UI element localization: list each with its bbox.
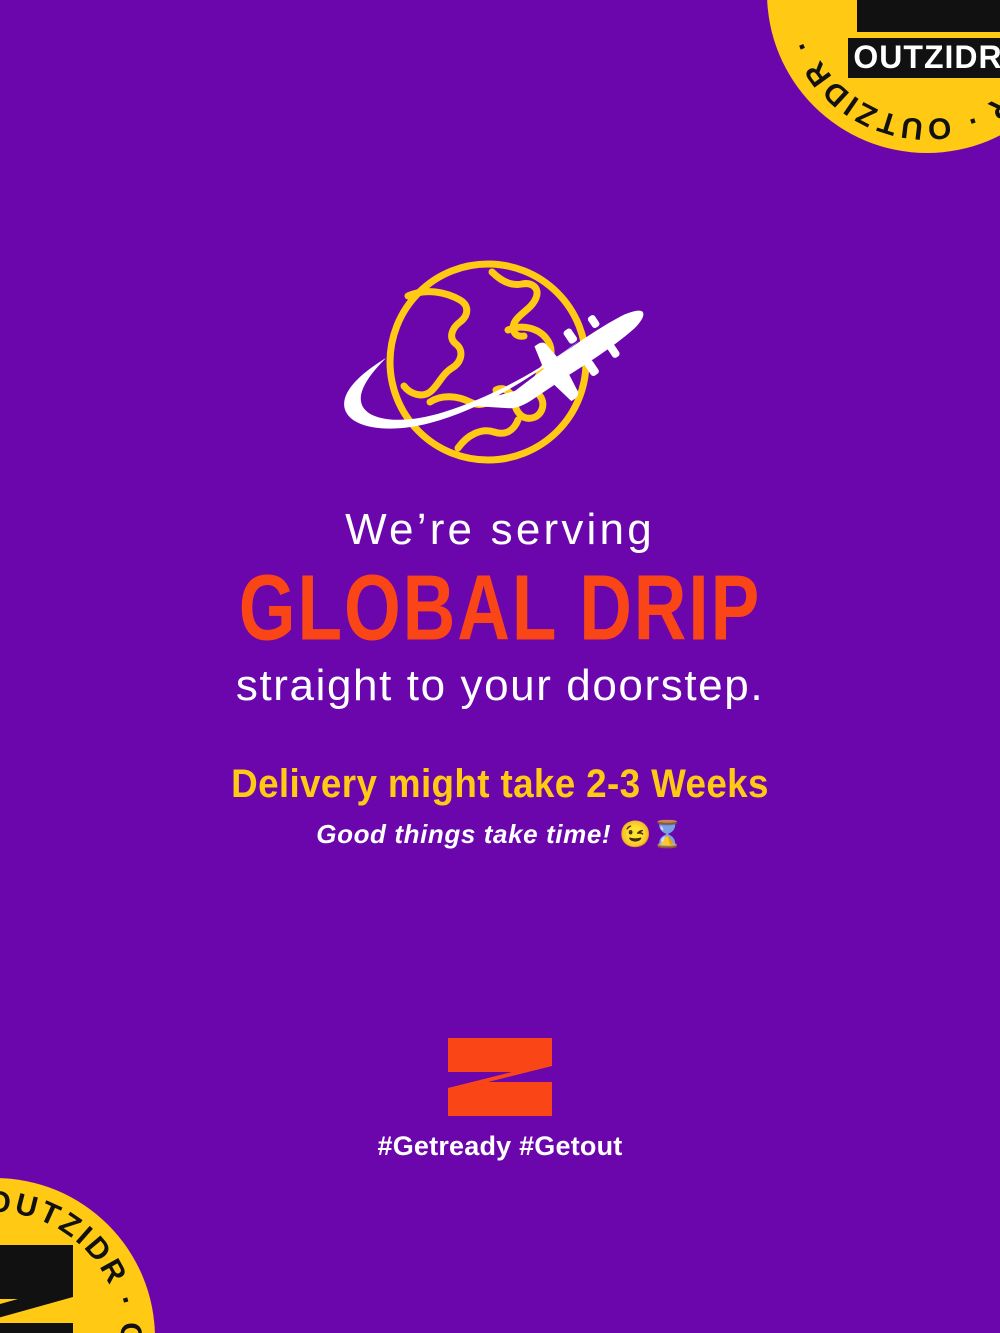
- outzidr-z-logo: [444, 1036, 556, 1118]
- outzidr-badge-top-right: OUTZIDR · OUTZIDR · OUTZIDR · OUTZIDR · …: [762, 0, 1000, 158]
- footer-lockup: #Getready #Getout: [0, 1036, 1000, 1162]
- badge-z-mark-top-right: [857, 0, 1000, 32]
- outzidr-badge-bottom-left: OUTZIDR · OUTZIDR · OUTZIDR · OUTZIDR · …: [0, 1173, 160, 1333]
- svg-text:OUTZIDR: OUTZIDR: [853, 39, 1000, 75]
- delivery-time-notice: Delivery might take 2-3 Weeks: [40, 762, 960, 806]
- headline-block: We’re serving GLOBAL DRIP straight to yo…: [0, 505, 1000, 711]
- headline-kicker: We’re serving: [0, 505, 1000, 554]
- headline-subline: straight to your doorstep.: [0, 661, 1000, 710]
- headline-emphasis: GLOBAL DRIP: [20, 560, 980, 656]
- badge-wordmark-bar-top-right: OUTZIDR: [848, 38, 1000, 78]
- delivery-reassurance-note: Good things take time! 😉⌛: [0, 820, 1000, 849]
- promo-poster: OUTZIDR · OUTZIDR · OUTZIDR · OUTZIDR · …: [0, 0, 1000, 1333]
- delivery-note-text: Good things take time!: [316, 819, 611, 849]
- globe-with-airplane-illustration: [330, 252, 670, 478]
- footer-hashtags: #Getready #Getout: [0, 1132, 1000, 1162]
- wink-and-hourglass-emoji: 😉⌛: [619, 819, 684, 849]
- delivery-notice-block: Delivery might take 2-3 Weeks Good thing…: [0, 762, 1000, 849]
